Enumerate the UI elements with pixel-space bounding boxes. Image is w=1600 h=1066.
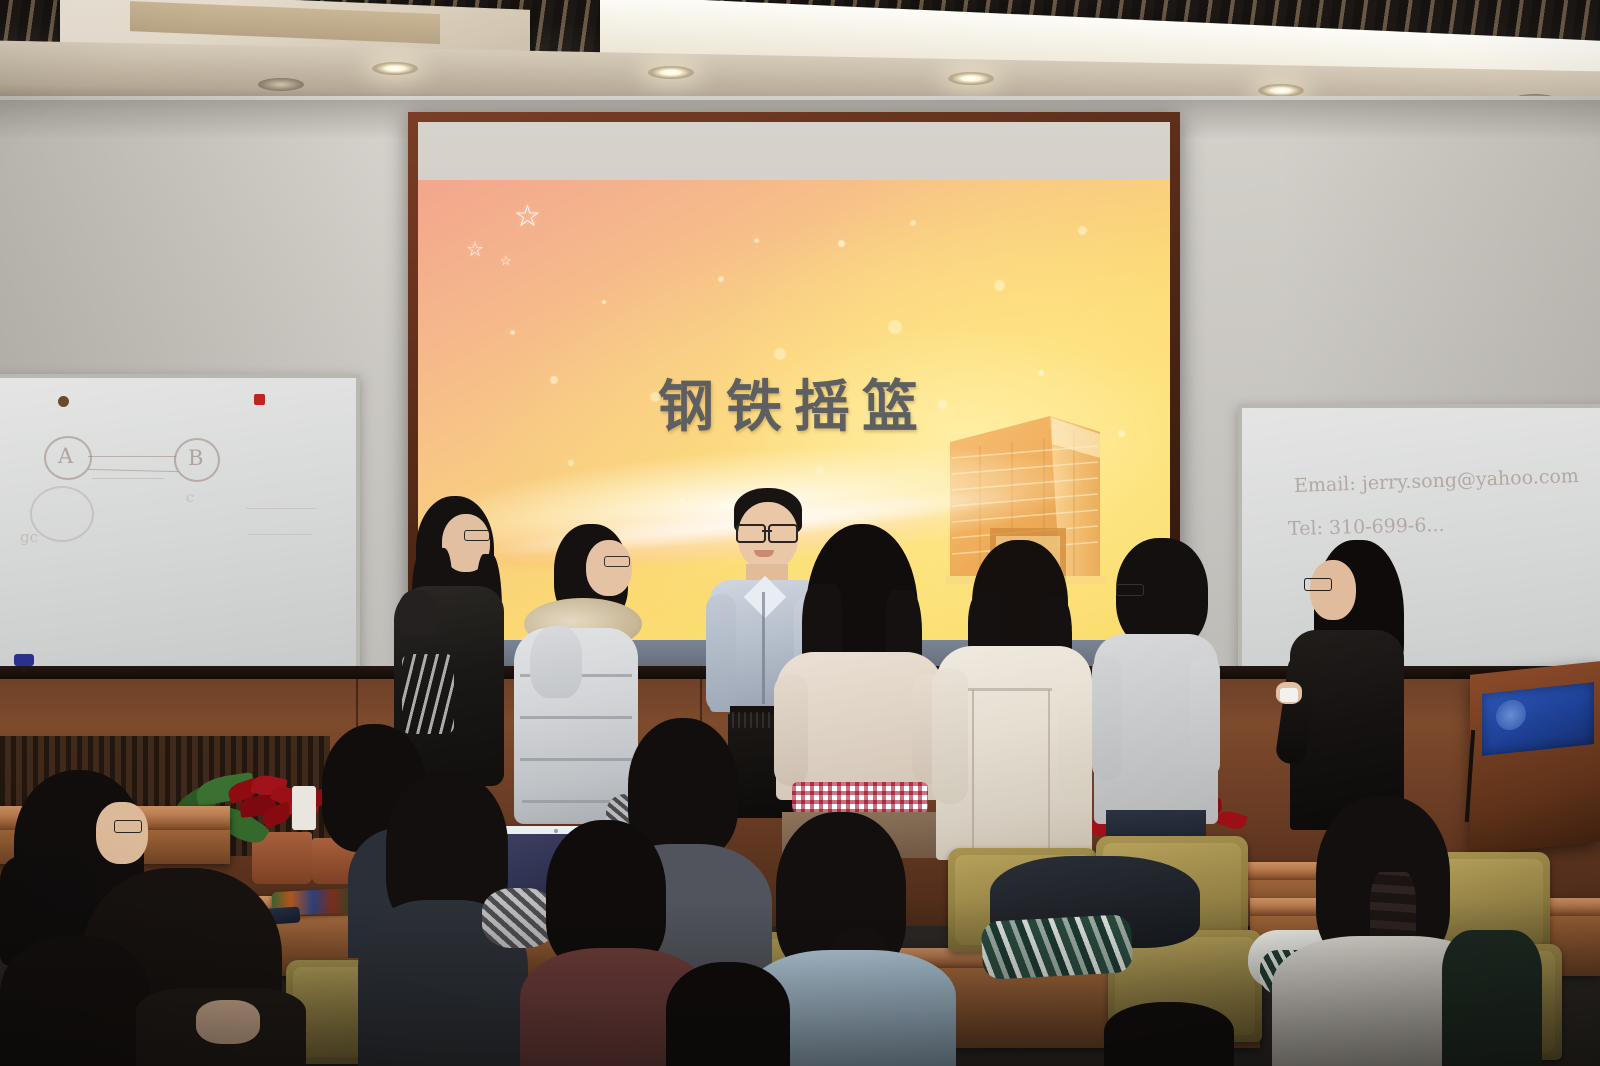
audience-face	[96, 802, 148, 864]
coat-seam	[1048, 690, 1050, 854]
fur-collar	[482, 888, 556, 948]
magnet-icon[interactable]	[254, 394, 265, 405]
jacket-graphic-print	[402, 654, 454, 734]
ceiling-spotlight-icon	[648, 66, 694, 79]
person-woman-beige-sweater	[774, 524, 944, 854]
audience-head	[666, 962, 790, 1066]
whiteboard-right-line2: Tel: 310-699-6...	[1288, 514, 1445, 540]
coat-yoke	[968, 688, 1052, 691]
sweater-sleeve	[1092, 656, 1122, 780]
whiteboard-edge-line	[88, 456, 176, 457]
audience-hands	[196, 1000, 260, 1044]
audience-head	[1104, 1002, 1234, 1066]
whiteboard-left[interactable]: A B gc c	[0, 374, 360, 678]
glasses-icon	[1304, 578, 1332, 591]
audience-shoulders	[1442, 930, 1542, 1066]
whiteboard-smudge	[246, 508, 316, 509]
blue-marker-icon[interactable]	[14, 654, 34, 666]
whiteboard-smudge	[30, 486, 94, 542]
star-outline-icon: ☆	[514, 202, 541, 232]
glasses-icon	[464, 530, 490, 541]
puffer-hood	[530, 626, 582, 698]
shirt-placket	[762, 592, 765, 704]
glasses-icon	[114, 820, 142, 833]
person-woman-grey-puffer	[500, 524, 646, 824]
star-outline-icon: ☆	[466, 240, 484, 260]
whiteboard-node-a-label: A	[58, 444, 73, 468]
paper-cup	[292, 786, 316, 830]
glasses-icon	[1116, 584, 1144, 596]
white-object-icon	[1280, 688, 1298, 702]
jacket-hood	[398, 590, 436, 636]
ceiling-spotlight-icon	[372, 62, 418, 75]
ceiling-spotlight-icon	[258, 78, 304, 91]
glasses-icon	[604, 556, 630, 567]
sweater-sleeve	[1190, 656, 1220, 778]
coat-seam	[972, 690, 974, 854]
whiteboard-node-b-label: B	[188, 446, 203, 470]
person-woman-cream-coat	[930, 540, 1094, 860]
coat-sleeve	[1058, 668, 1092, 798]
slide-title: 钢铁摇篮	[418, 362, 1170, 443]
whiteboard-smudge	[92, 478, 164, 479]
audience-head	[0, 936, 150, 1066]
ceiling-spotlight-icon	[948, 72, 994, 85]
magnet-icon[interactable]	[58, 396, 69, 407]
whiteboard-smudge	[248, 534, 312, 535]
striped-scarf	[981, 914, 1134, 980]
person-woman-dark-blazer	[1276, 540, 1412, 830]
sweater-sleeve	[774, 674, 808, 786]
webcam-icon	[554, 829, 558, 833]
person-woman-grey-sweater	[1094, 538, 1220, 848]
star-outline-icon: ☆	[500, 254, 512, 267]
coat-sleeve	[932, 668, 968, 804]
shirt-sleeve-left	[706, 594, 736, 712]
whiteboard-edge-line	[88, 469, 178, 472]
screenshot-root: A B gc c Email: jerry.song@yahoo.com Tel…	[0, 0, 1600, 1066]
whiteboard-right-line1: Email: jerry.song@yahoo.com	[1294, 465, 1580, 497]
